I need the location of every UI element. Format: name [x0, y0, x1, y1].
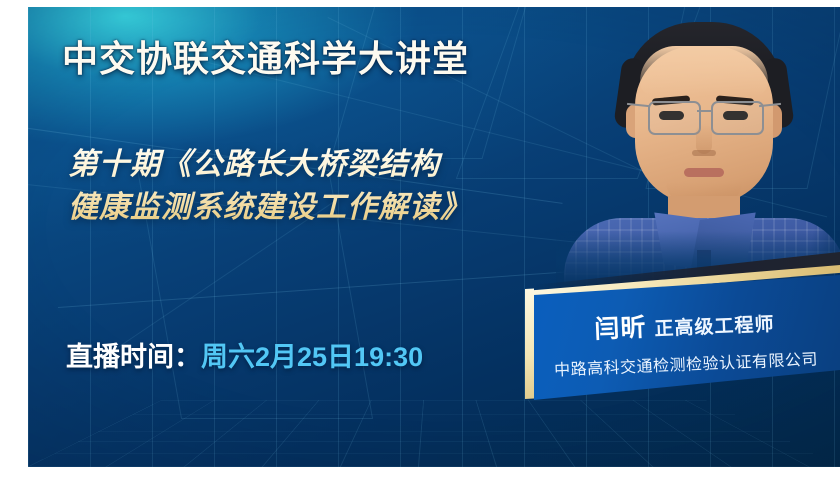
session-subtitle: 第十期《公路长大桥梁结构 健康监测系统建设工作解读》	[68, 144, 471, 229]
glasses-lens-left-icon	[648, 101, 701, 135]
glasses-lens-right-icon	[711, 101, 764, 135]
live-time: 直播时间：周六2月25日19:30	[66, 335, 423, 374]
speaker-name-row: 闫昕 正高级工程师	[594, 302, 775, 346]
speaker-title: 正高级工程师	[654, 309, 775, 341]
session-subtitle-line-2: 健康监测系统建设工作解读》	[68, 187, 471, 230]
session-subtitle-line-1: 第十期《公路长大桥梁结构	[68, 144, 471, 187]
presenter-photo-illustration	[556, 7, 840, 285]
page-title: 中交协联交通科学大讲堂	[62, 30, 469, 82]
speaker-organization: 中路高科交通检测检验认证有限公司	[554, 345, 819, 380]
live-time-value: 周六2月25日19:30	[201, 342, 423, 372]
poster-frame: 中交协联交通科学大讲堂 第十期《公路长大桥梁结构 健康监测系统建设工作解读》 直…	[0, 0, 840, 480]
poster-artwork: 中交协联交通科学大讲堂 第十期《公路长大桥梁结构 健康监测系统建设工作解读》 直…	[28, 7, 840, 467]
glasses-bridge-icon	[697, 110, 711, 112]
speaker-info: 闫昕 正高级工程师 中路高科交通检测检验认证有限公司	[532, 286, 838, 395]
portrait-mouth	[684, 168, 724, 177]
portrait-forehead	[640, 46, 768, 96]
presenter-photo	[556, 7, 840, 285]
live-time-label: 直播时间：	[66, 342, 201, 372]
speaker-name: 闫昕	[594, 307, 647, 345]
portrait-nostrils	[692, 150, 716, 156]
background-grid-floor	[28, 400, 840, 467]
